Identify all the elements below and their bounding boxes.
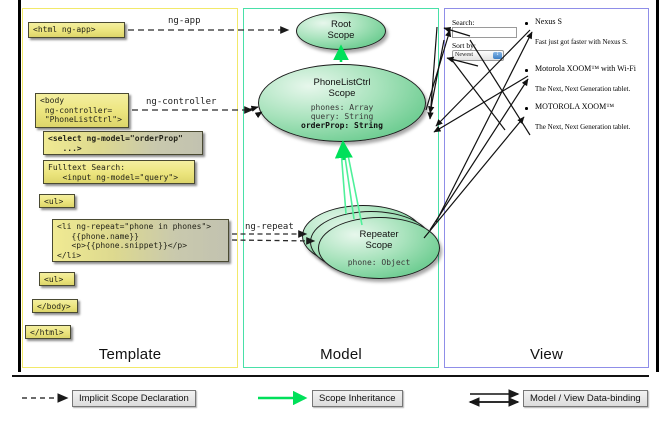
- legend-markers-overlay: [0, 0, 661, 425]
- diagram-root: Template Model View <html ng-app> <body …: [0, 0, 661, 425]
- legend-double-arrow-icon: [470, 394, 518, 402]
